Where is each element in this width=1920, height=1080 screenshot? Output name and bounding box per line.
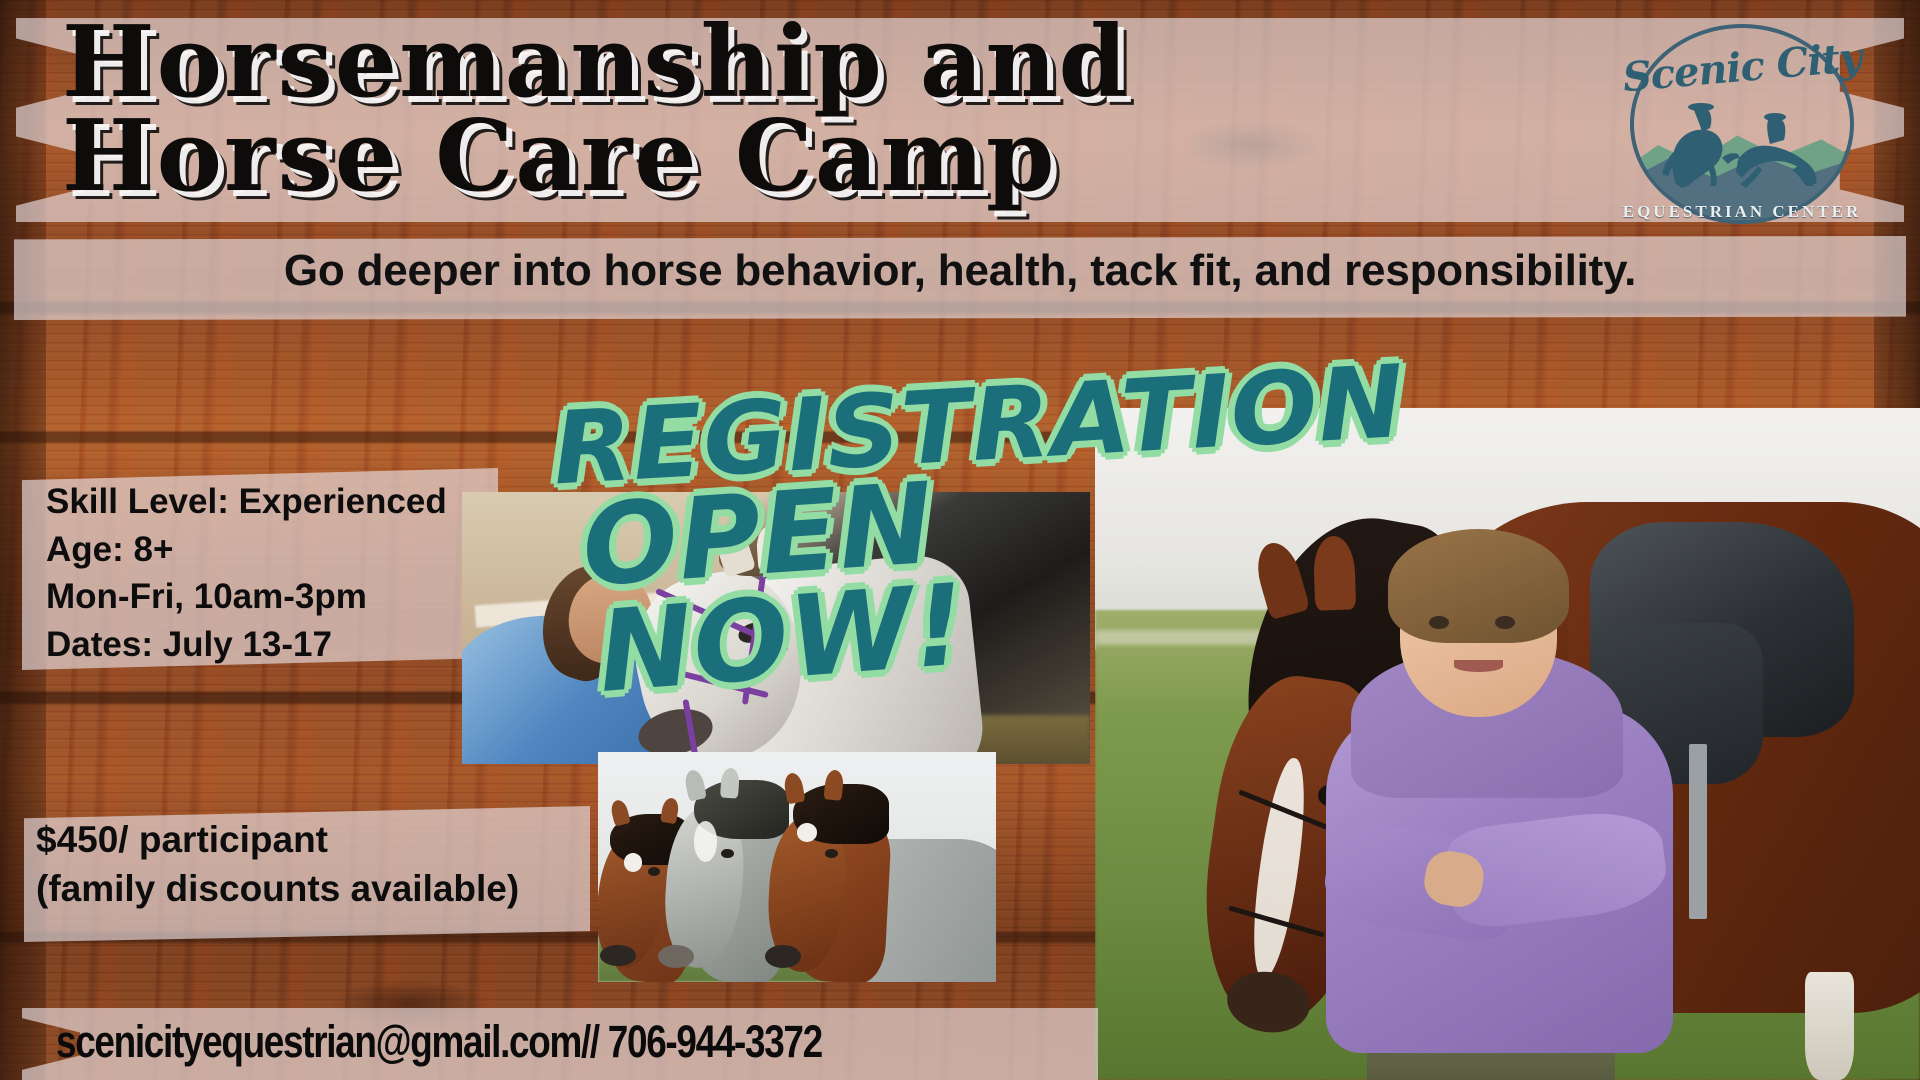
photo-three-horses (598, 752, 996, 982)
photo-c-boy-hair (1388, 529, 1570, 643)
contact-info: scenicityequestrian@gmail.com// 706-944-… (56, 1016, 901, 1068)
price-text: $450/ participant (family discounts avai… (36, 816, 596, 914)
photo-c-stirrup-leather (1689, 744, 1707, 919)
horse-riders-icon (1642, 96, 1842, 188)
photo-b-horse-ear (720, 768, 740, 799)
photo-b-horse-eye (825, 849, 838, 859)
photo-c-horse-sock (1805, 972, 1855, 1080)
photo-woman-with-grey-horse (462, 492, 1090, 764)
photo-b-horse-eye (648, 867, 660, 876)
camp-details-text: Skill Level: Experienced Age: 8+ Mon-Fri… (46, 478, 516, 668)
logo-arc-text: EQUESTRIAN CENTER (1616, 202, 1868, 222)
photo-c-boy-eye (1495, 616, 1515, 629)
photo-b-horse-muzzle (658, 945, 694, 968)
page-title: Horsemanship and Horse Care Camp (62, 16, 1662, 204)
poster-canvas: Horsemanship and Horse Care Camp (0, 0, 1920, 1080)
brand-logo: Scenic City EQUESTRIAN CENTER (1616, 18, 1868, 230)
photo-b-horse-muzzle (600, 945, 636, 966)
photo-c-boy-eye (1429, 616, 1449, 629)
photo-b-horse-blaze (624, 853, 642, 871)
photo-boy-with-bay-horse (1095, 408, 1920, 1080)
subtitle-text: Go deeper into horse behavior, health, t… (0, 246, 1920, 296)
photo-b-horse-blaze (797, 823, 817, 841)
